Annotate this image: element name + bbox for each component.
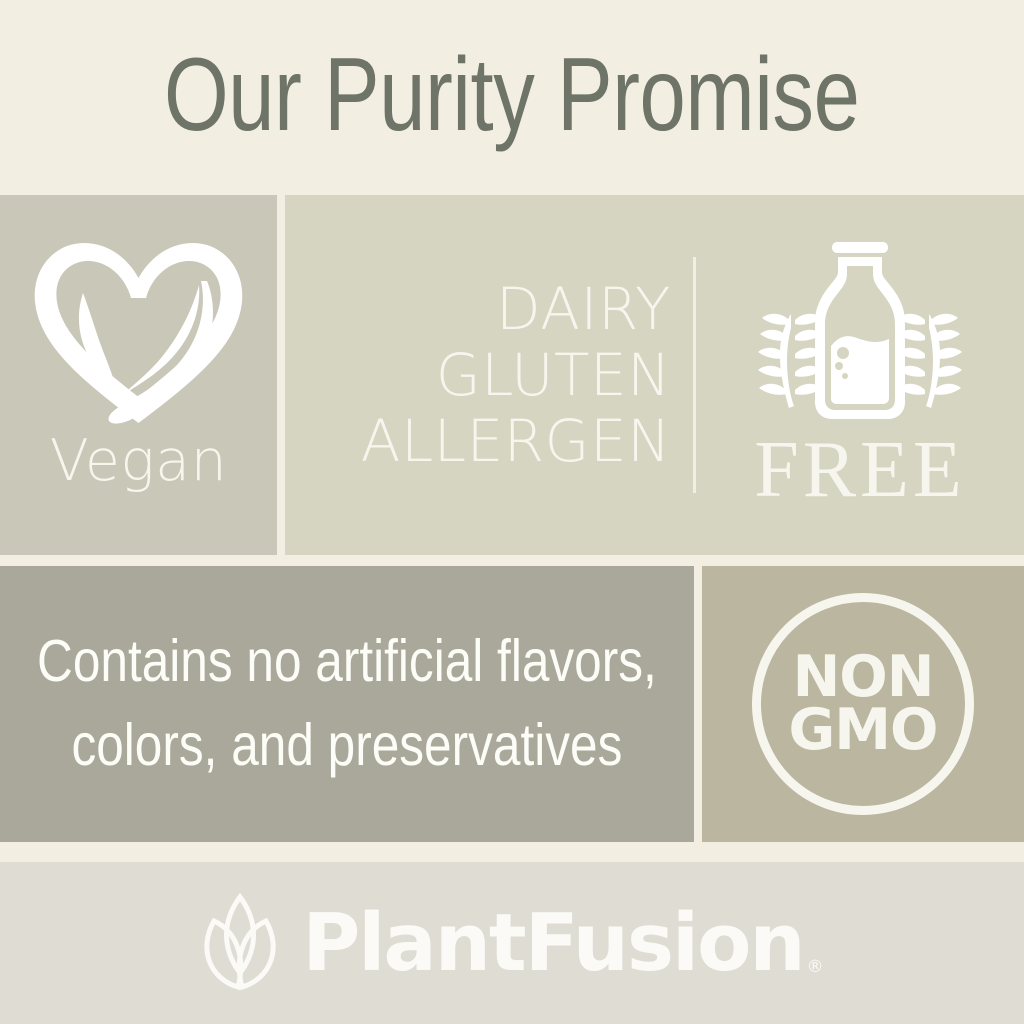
- free-item-allergen: ALLERGEN: [285, 408, 671, 474]
- registered-trademark-icon: ®: [807, 957, 824, 977]
- free-mark-group: FREE: [696, 236, 1024, 514]
- non-gmo-line-2: GMO: [789, 704, 938, 757]
- brand-wordmark-wrap: PlantFusion ®: [302, 904, 823, 983]
- vegan-panel-content: Vegan: [0, 195, 277, 555]
- footer-band: PlantFusion ®: [0, 862, 1024, 1024]
- free-word-list: DAIRY GLUTEN ALLERGEN: [285, 276, 693, 474]
- no-artificial-line-1: Contains no artificial flavors,: [37, 620, 657, 704]
- free-panel: DAIRY GLUTEN ALLERGEN: [285, 195, 1024, 555]
- free-word: FREE: [754, 430, 966, 510]
- plantfusion-petal-icon: [188, 887, 292, 999]
- no-artificial-text: Contains no artificial flavors, colors, …: [37, 620, 657, 788]
- milk-bottle-wheat-icon: [735, 236, 985, 432]
- no-artificial-panel: Contains no artificial flavors, colors, …: [0, 566, 694, 842]
- title-band: Our Purity Promise: [0, 0, 1024, 190]
- heart-leaf-icon: [31, 237, 246, 427]
- no-artificial-content: Contains no artificial flavors, colors, …: [0, 566, 694, 842]
- brand-wordmark: PlantFusion: [302, 904, 803, 983]
- non-gmo-circle-icon: NON GMO: [752, 593, 974, 815]
- no-artificial-line-2: colors, and preservatives: [37, 704, 657, 788]
- purity-promise-graphic: Our Purity Promise Vegan DAIRY G: [0, 0, 1024, 1024]
- vegan-panel: Vegan: [0, 195, 277, 555]
- brand-logo: PlantFusion ®: [188, 887, 823, 999]
- non-gmo-content: NON GMO: [702, 566, 1024, 842]
- free-item-dairy: DAIRY: [285, 276, 671, 342]
- page-title: Our Purity Promise: [164, 43, 860, 147]
- free-panel-content: DAIRY GLUTEN ALLERGEN: [285, 195, 1024, 555]
- non-gmo-panel: NON GMO: [702, 566, 1024, 842]
- free-item-gluten: GLUTEN: [285, 342, 671, 408]
- vegan-label: Vegan: [50, 433, 227, 490]
